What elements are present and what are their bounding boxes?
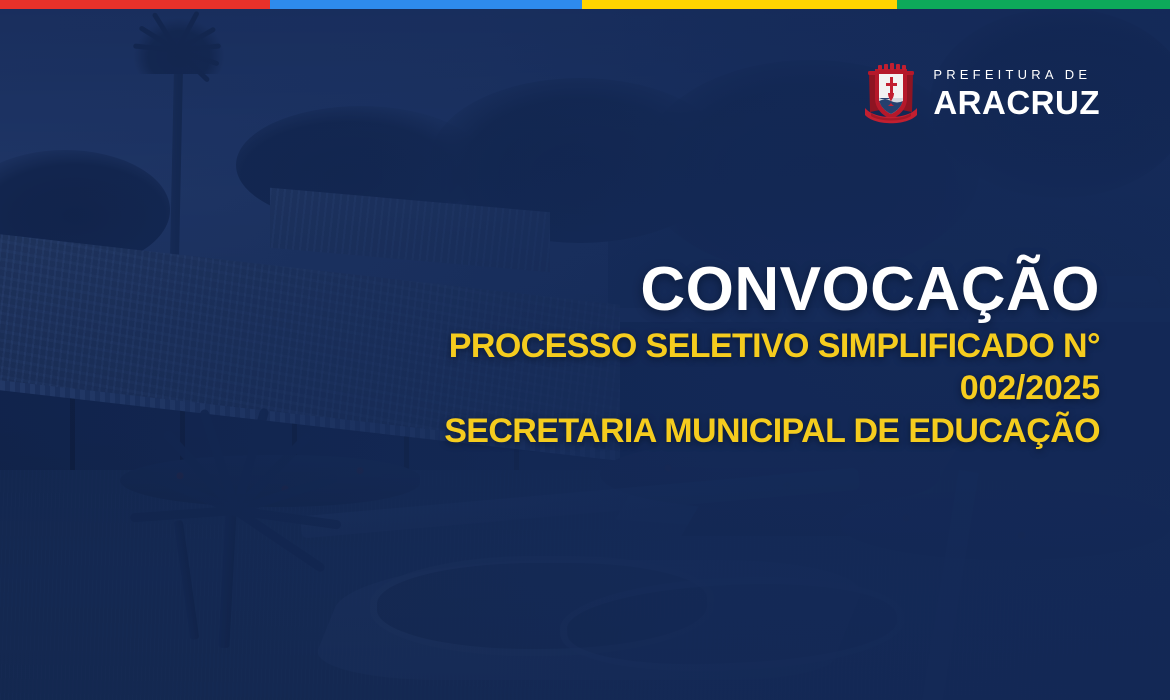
color-bar-red [0,0,270,9]
prefeitura-logo: PREFEITURA DE ARACRUZ [863,60,1100,126]
logo-wordmark: PREFEITURA DE ARACRUZ [933,68,1100,119]
logo-line-prefeitura: PREFEITURA DE [933,68,1100,81]
subtitle-line-2: 002/2025 [340,367,1100,409]
coat-of-arms-icon [863,60,919,126]
page-title: CONVOCAÇÃO [340,258,1100,321]
subtitle-line-1: PROCESSO SELETIVO SIMPLIFICADO N° [340,325,1100,367]
poster: PREFEITURA DE ARACRUZ CONVOCAÇÃO PROCESS… [0,0,1170,700]
logo-line-aracruz: ARACRUZ [933,86,1100,119]
top-color-bar [0,0,1170,9]
color-bar-yellow [582,0,897,9]
headline-block: CONVOCAÇÃO PROCESSO SELETIVO SIMPLIFICAD… [340,258,1100,452]
color-bar-green [897,0,1170,9]
subtitle-line-3: SECRETARIA MUNICIPAL DE EDUCAÇÃO [340,410,1100,452]
color-bar-blue [270,0,582,9]
